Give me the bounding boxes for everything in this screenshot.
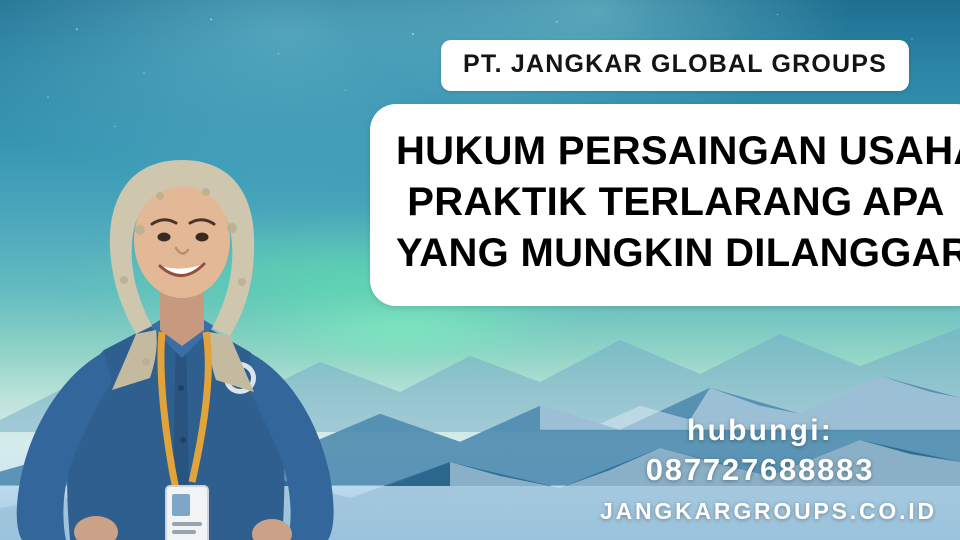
headline-line-2: PRAKTIK TERLARANG APA — [396, 177, 956, 228]
headline-line-3: YANG MUNGKIN DILANGGAR — [396, 228, 956, 279]
headline-line-1: HUKUM PERSAINGAN USAHA — [396, 126, 956, 177]
contact-label: hubungi: — [600, 414, 920, 448]
contact-website[interactable]: JANGKARGROUPS.CO.ID — [600, 498, 920, 525]
headline-card: HUKUM PERSAINGAN USAHA PRAKTIK TERLARANG… — [370, 104, 960, 306]
brand-banner: PT. JANGKAR GLOBAL GROUPS — [441, 40, 909, 91]
poster-canvas: PT. JANGKAR GLOBAL GROUPS HUKUM PERSAING… — [0, 0, 960, 540]
person-photo — [0, 120, 360, 540]
contact-phone[interactable]: 087727688883 — [600, 452, 920, 488]
contact-block: hubungi: 087727688883 JANGKARGROUPS.CO.I… — [600, 414, 920, 525]
